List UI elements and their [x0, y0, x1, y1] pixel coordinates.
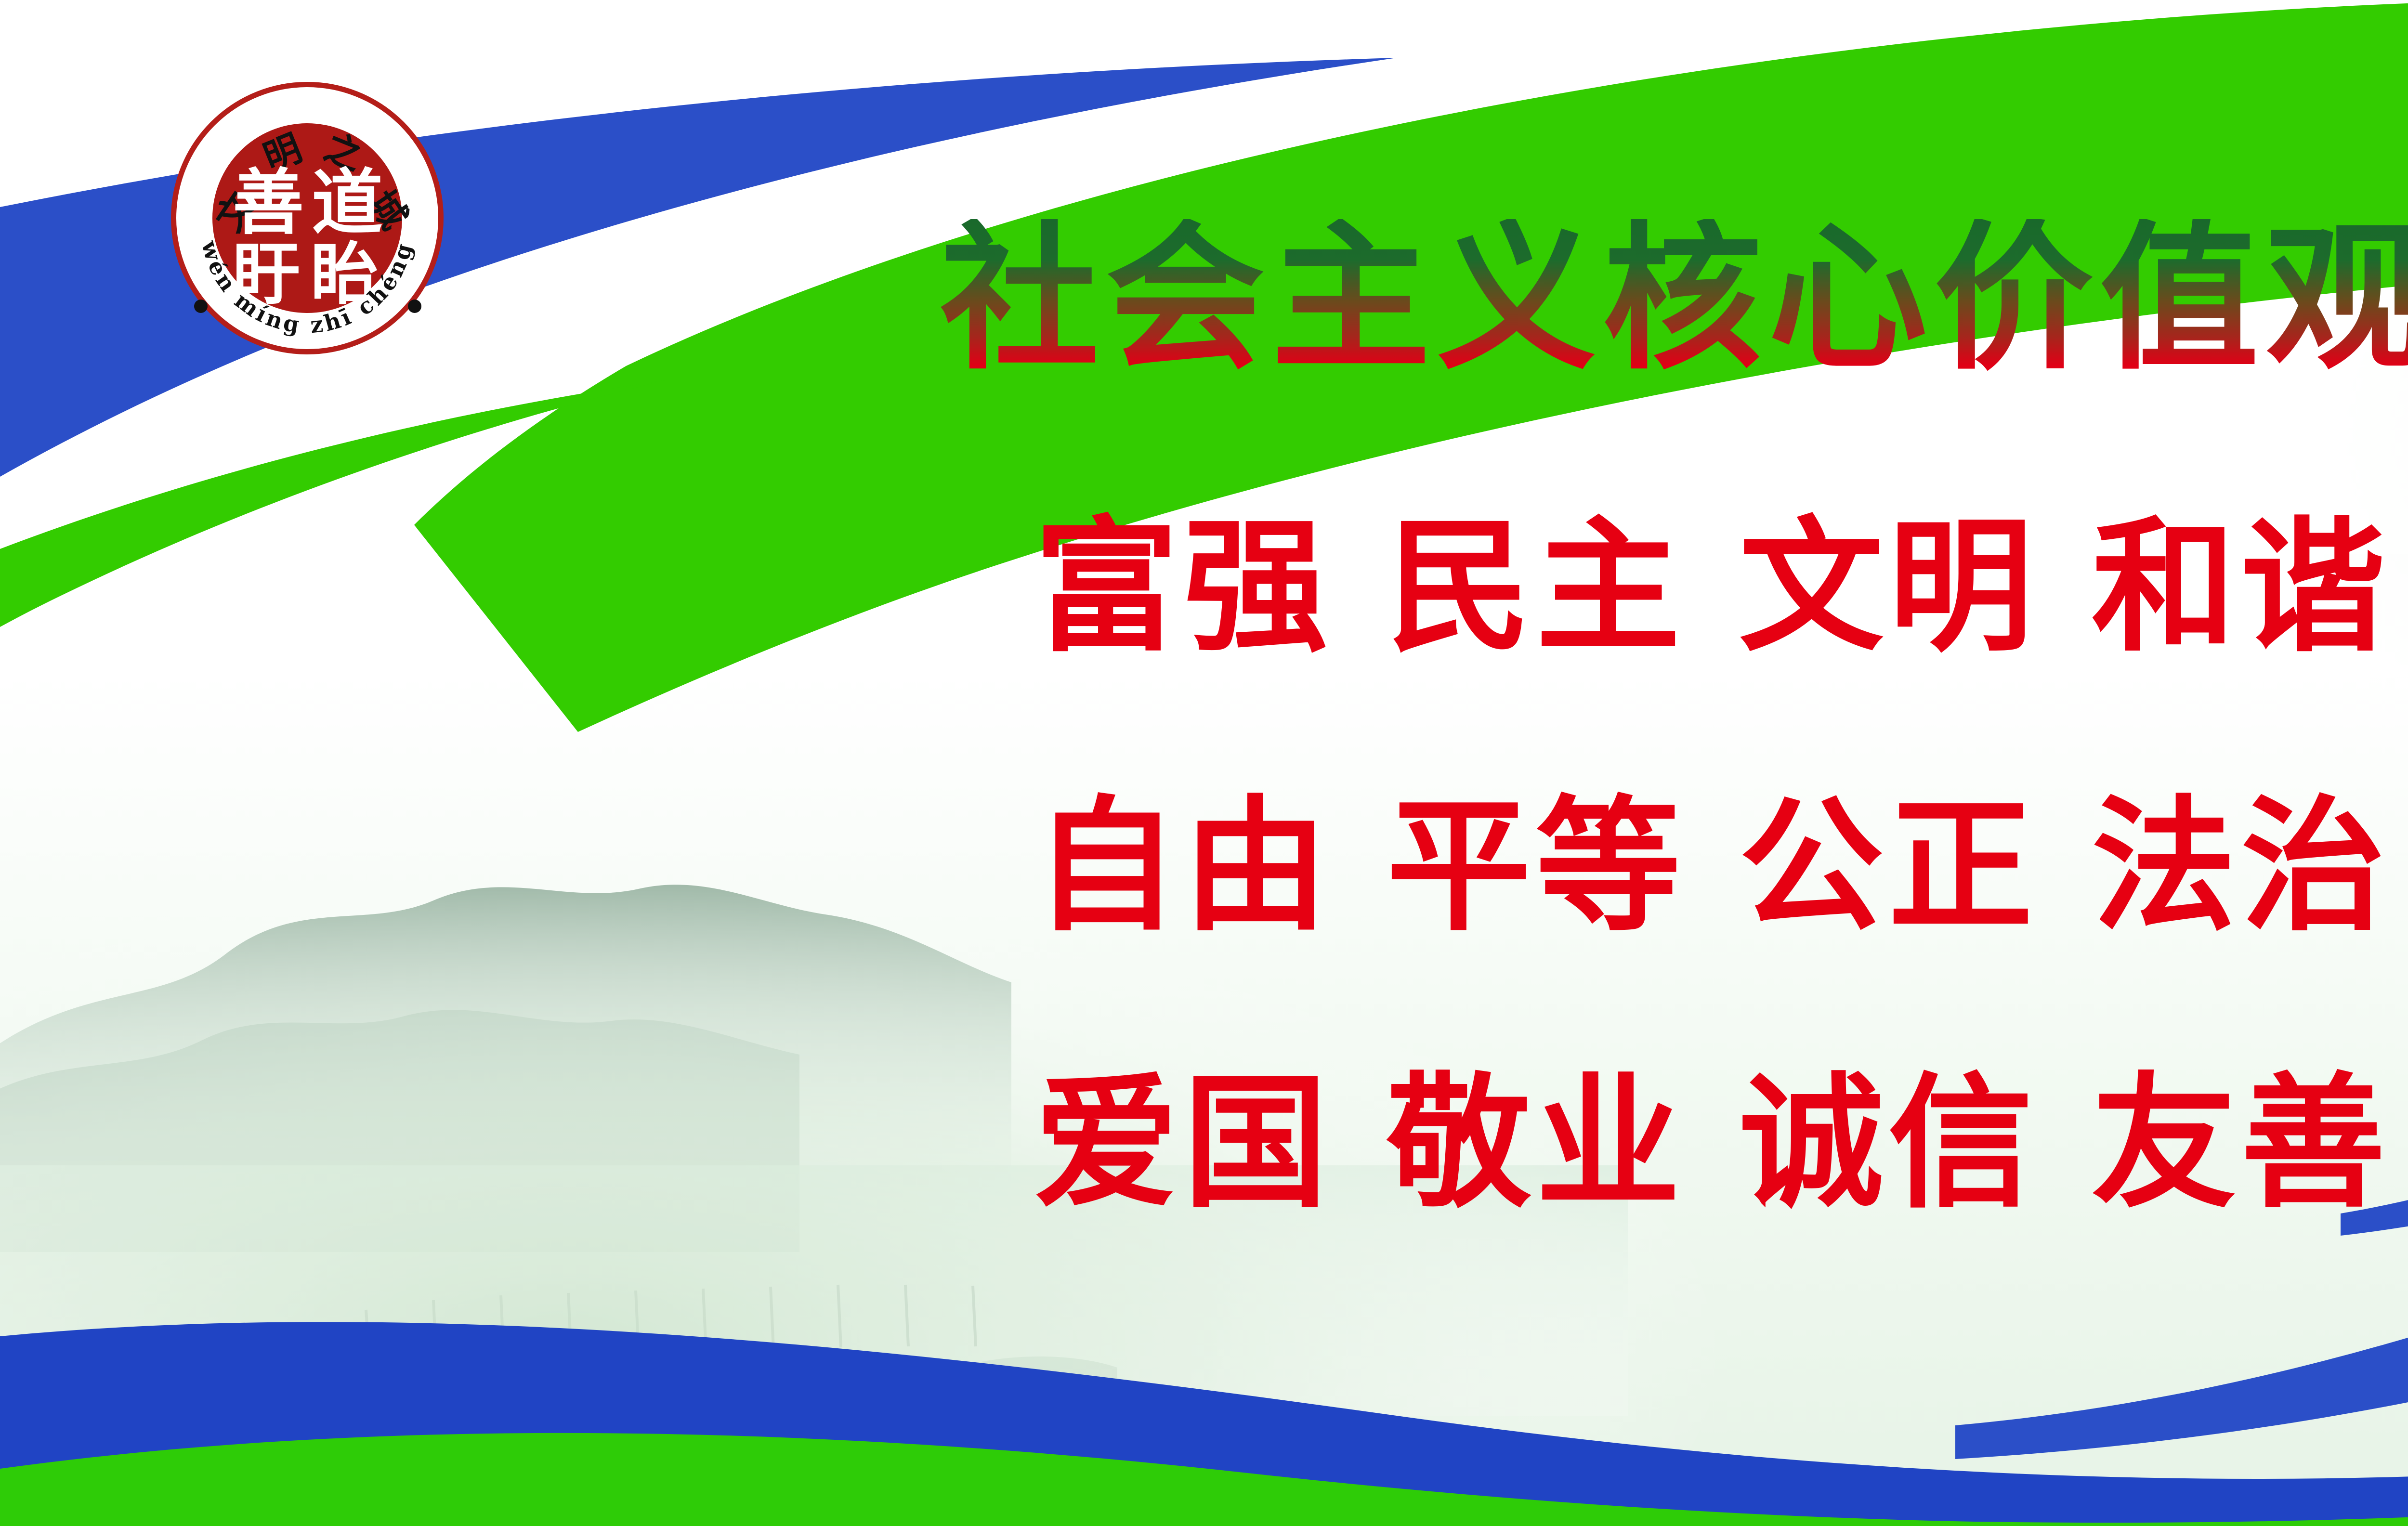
emblem-pinyin: wén míng zhī chéng — [171, 82, 444, 354]
ribbon-blue-curve-long — [1955, 780, 2408, 1459]
svg-text:wén míng zhī chéng: wén míng zhī chéng — [196, 237, 418, 338]
emblem-pinyin-text: wén míng zhī chéng — [196, 237, 418, 338]
ribbon-blue-curve-thin — [2341, 665, 2408, 1236]
city-emblem-logo: 文 明 之 城 善 道 盱 眙 wén míng zhī chéng — [171, 82, 455, 380]
poster-canvas: 社会主义核心价值观 富强民主文明和谐 自由平等公正法治 爱国敬业诚信友善 文 明… — [0, 0, 2408, 1526]
ribbon-green-top — [414, 0, 2408, 1526]
